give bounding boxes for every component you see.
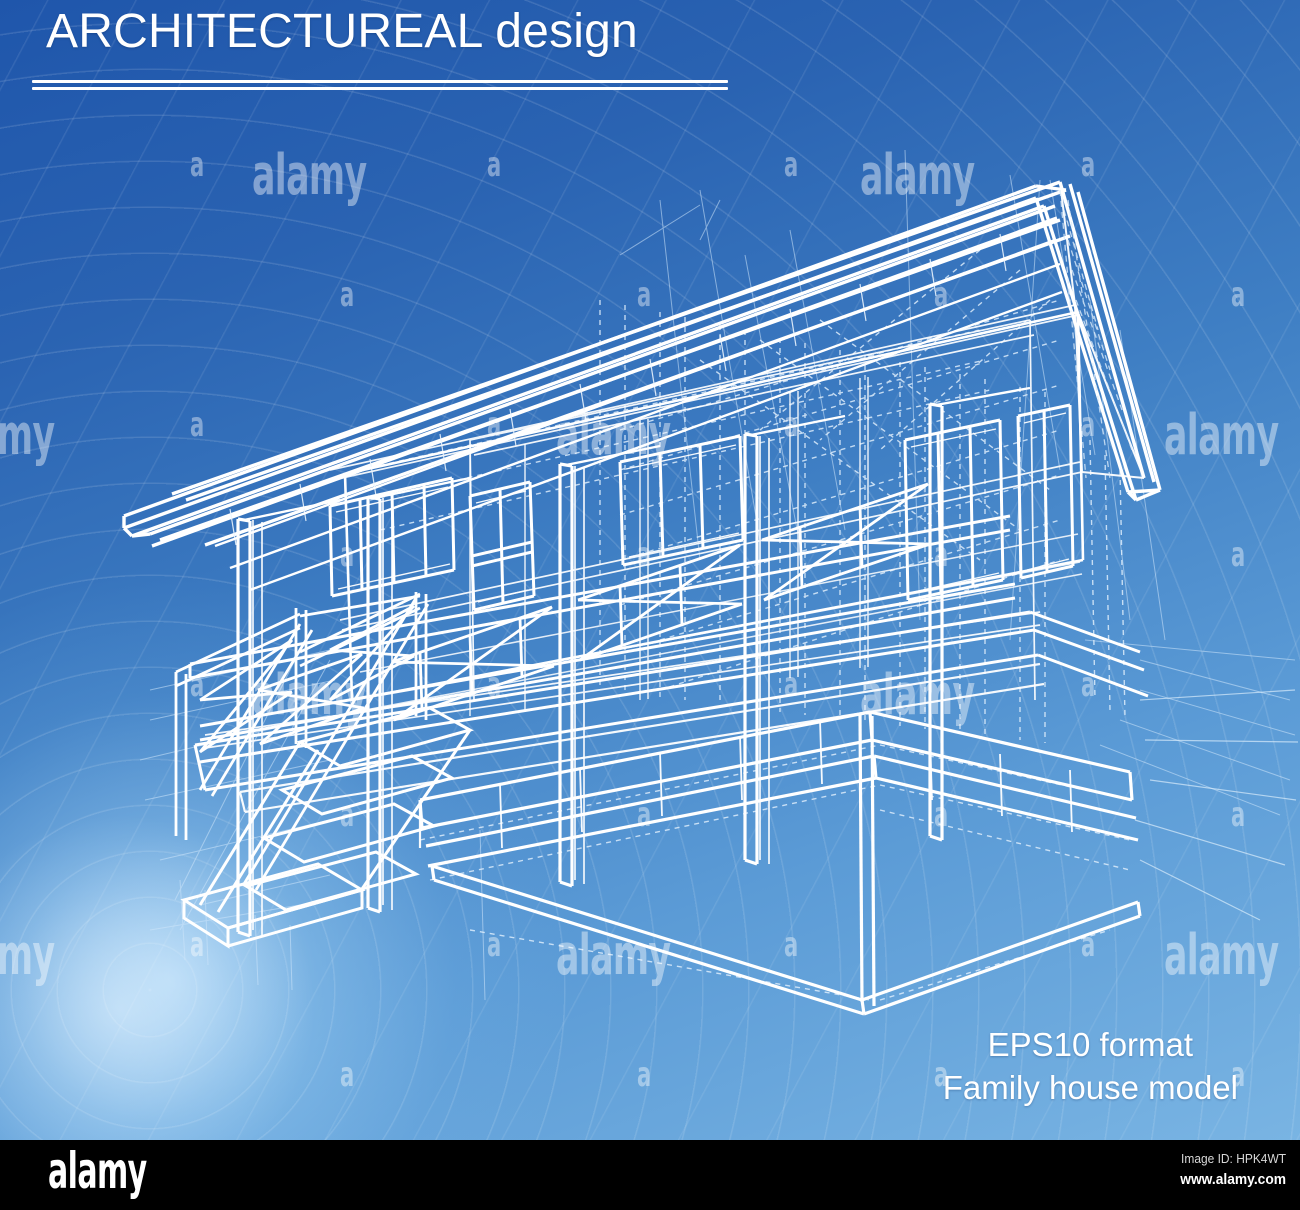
title-underline-line-1 [32, 80, 728, 83]
title-underline [32, 80, 728, 90]
image-id-label: Image ID: HPK4WT [1180, 1150, 1286, 1169]
screenshot-root: aaaaaaaaaaaaaaaaaaaaaaaaaaaaaaaaalamyala… [0, 0, 1300, 1210]
footer-meta: Image ID: HPK4WT www.alamy.com [1171, 1150, 1286, 1191]
alamy-logo[interactable]: alamy [48, 1146, 147, 1196]
caption-line-format: EPS10 format [943, 1024, 1238, 1067]
alamy-url[interactable]: www.alamy.com [1180, 1169, 1286, 1191]
page-title: ARCHITECTUREAL design [46, 8, 638, 56]
caption-block: EPS10 format Family house model [943, 1024, 1238, 1110]
caption-line-model: Family house model [943, 1067, 1238, 1110]
artwork-canvas: aaaaaaaaaaaaaaaaaaaaaaaaaaaaaaaaalamyala… [0, 0, 1300, 1140]
title-block: ARCHITECTUREAL design [46, 8, 638, 56]
title-underline-line-2 [32, 87, 728, 90]
house-wireframe [0, 0, 1300, 1140]
stock-footer-bar: alamy Image ID: HPK4WT www.alamy.com [0, 1140, 1300, 1210]
title-suffix: design [482, 5, 638, 58]
title-main: ARCHITECTUREAL [46, 5, 482, 58]
